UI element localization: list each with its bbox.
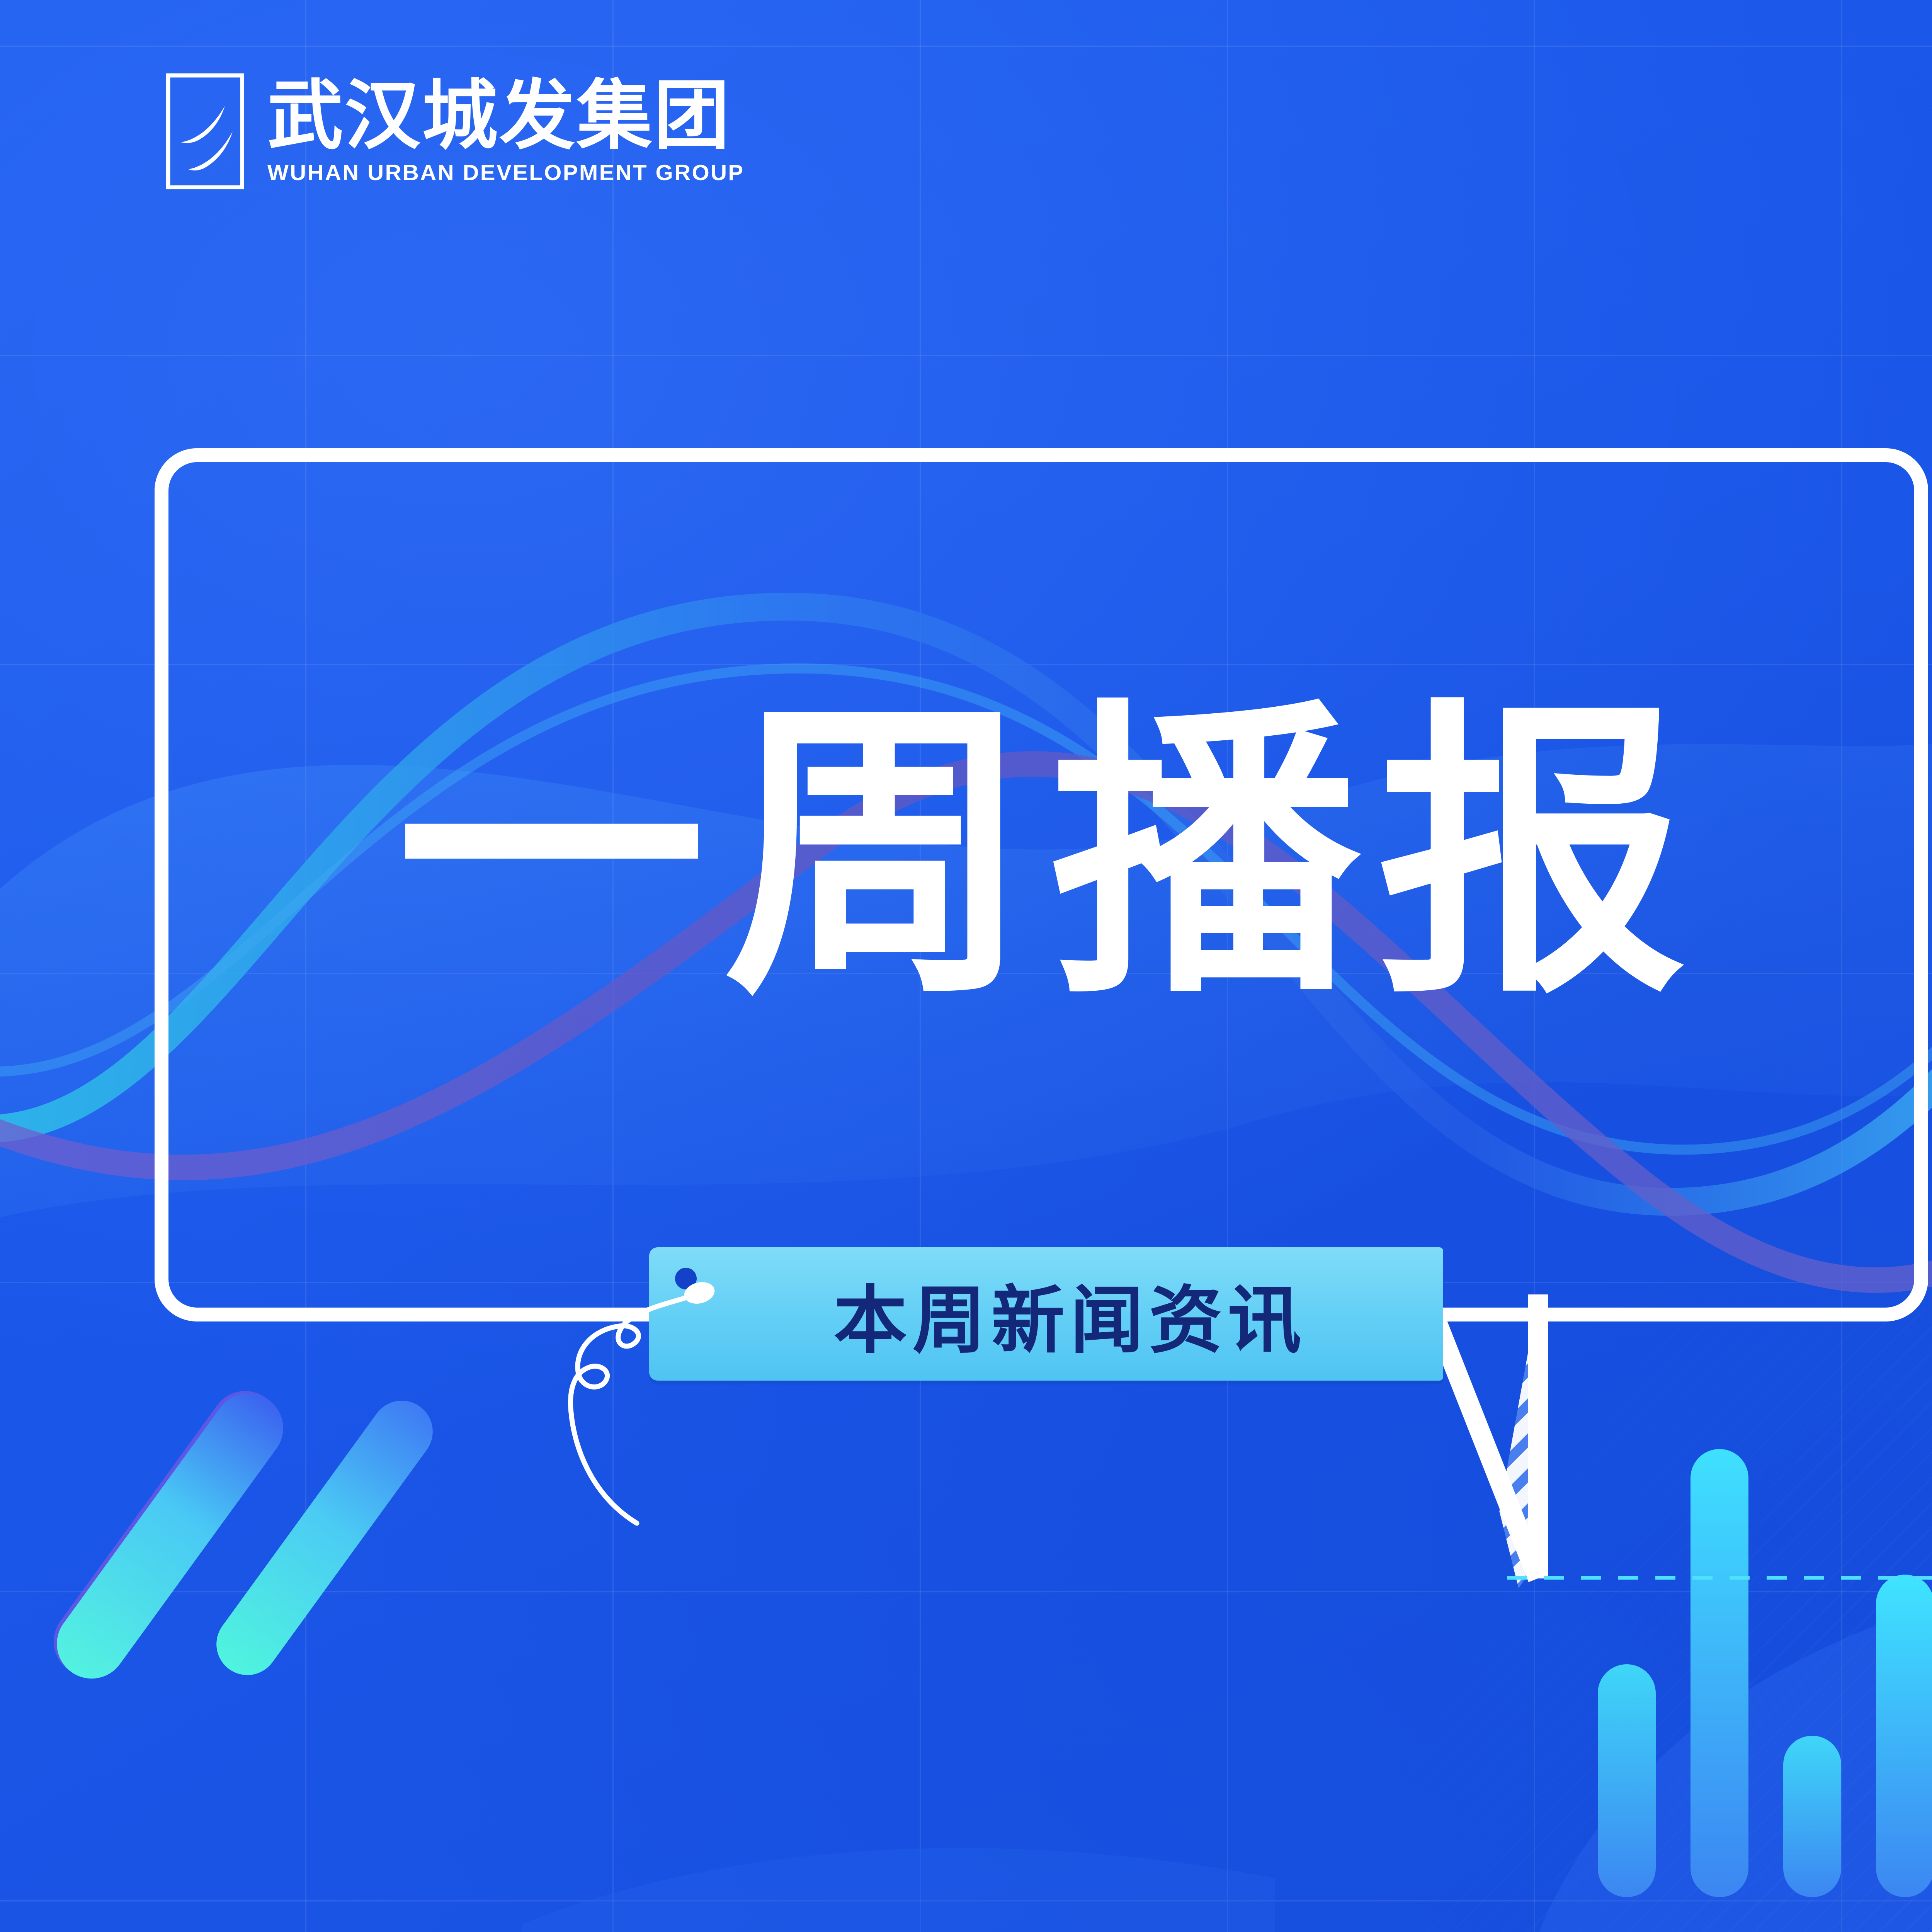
threshold-dashed-line	[1507, 1576, 1932, 1580]
logo-mark-icon	[166, 73, 244, 189]
brand-wordmark: 武汉城发集团 WUHAN URBAN DEVELOPMENT GROUP	[267, 77, 735, 185]
bar-chart-bar	[1690, 1449, 1748, 1897]
bar-chart	[1580, 1449, 1932, 1897]
brand-logo: 武汉城发集团 WUHAN URBAN DEVELOPMENT GROUP	[166, 73, 735, 189]
bar-chart-bar	[1876, 1575, 1932, 1897]
tag-string-decoration	[533, 1275, 773, 1607]
subtitle-tag-label: 本周新闻资讯	[828, 1261, 1306, 1367]
poster-canvas: 武汉城发集团 WUHAN URBAN DEVELOPMENT GROUP 一周播…	[0, 0, 1932, 1932]
page-title: 一周播报	[247, 703, 1835, 1012]
brand-name-cn: 武汉城发集团	[267, 77, 735, 155]
bar-chart-bar	[1783, 1736, 1841, 1897]
bar-chart-bar	[1598, 1664, 1656, 1897]
brand-name-en: WUHAN URBAN DEVELOPMENT GROUP	[267, 160, 745, 185]
